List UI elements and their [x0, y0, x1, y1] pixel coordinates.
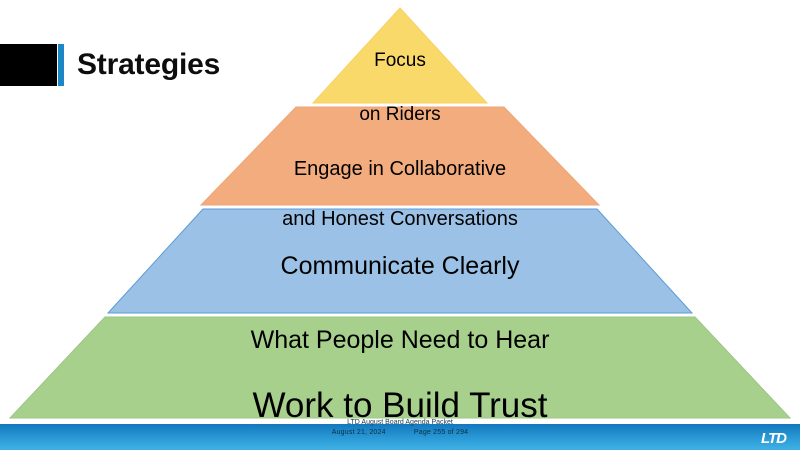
pyramid-tier-upper-middle[interactable] — [201, 107, 599, 205]
pyramid-tier-lower-middle[interactable] — [108, 209, 692, 313]
slide-canvas: Strategies Focus on Riders Engage in Col… — [0, 0, 800, 450]
pyramid-svg — [0, 0, 800, 425]
footer-document-title: LTD August Board Agenda Packet — [347, 419, 453, 426]
footer-text: LTD August Board Agenda Packet August 21… — [0, 418, 800, 438]
ltd-logo: LTD — [761, 431, 786, 446]
footer-date: August 21, 2024 — [332, 429, 386, 436]
strategies-pyramid: Focus on Riders Engage in Collaborative … — [0, 0, 800, 425]
footer-page-number: Page 255 of 294 — [414, 429, 468, 436]
pyramid-tier-base[interactable] — [10, 317, 790, 418]
pyramid-tier-top[interactable] — [313, 8, 487, 103]
footer-meta-line: August 21, 2024 Page 255 of 294 — [0, 428, 800, 438]
